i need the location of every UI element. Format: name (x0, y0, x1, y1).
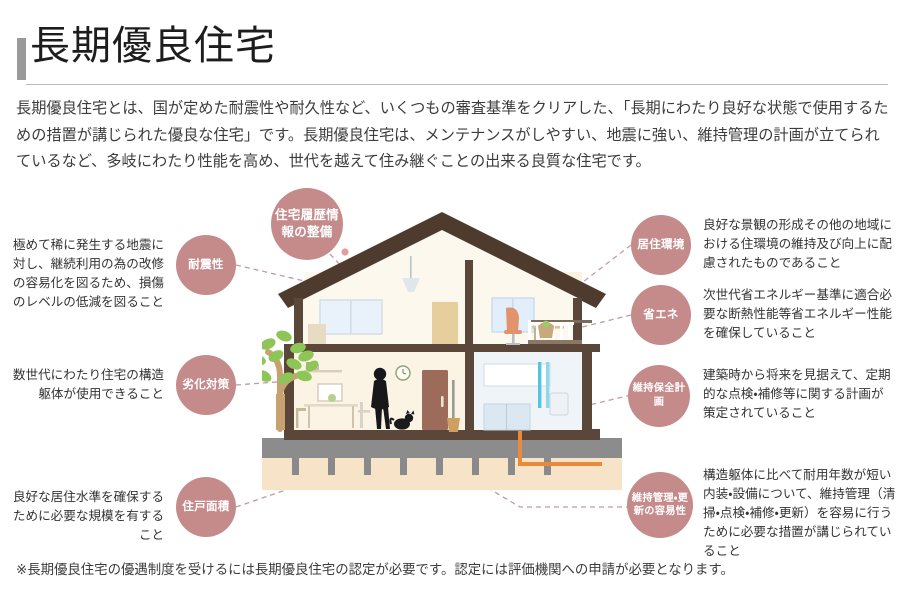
upper-left-window (320, 300, 382, 334)
callout-deterioration-countermeasures: 数世代にわたり住宅の構造躯体が使用できること (12, 366, 164, 404)
badge-dwelling-area[interactable]: 住戸面積 (176, 477, 236, 537)
badge-label: 維持保全計画 (628, 382, 690, 410)
page-header: 長期優良住宅 (0, 8, 905, 78)
badge-deterioration-countermeasures[interactable]: 劣化対策 (176, 355, 236, 415)
callout-energy-saving: 次世代省エネルギー基準に適合必要な断熱性能等省エネルギー性能を確保していること (703, 286, 895, 343)
badge-energy-saving[interactable]: 省エネ (631, 285, 691, 345)
badge-label: 省エネ (643, 308, 678, 322)
badge-maintenance-renewal-ease[interactable]: 維持管理・更新の容易性 (627, 472, 693, 538)
badge-living-environment[interactable]: 居住環境 (631, 215, 691, 275)
right-wall-lower (582, 344, 592, 432)
left-wall-upper (294, 298, 303, 344)
badge-label: 居住環境 (637, 238, 684, 252)
water-heater (550, 393, 568, 415)
badge-label: 住戸面積 (182, 500, 229, 514)
callout-maintenance-plan: 建築時から将来を見据えて、定期的な点検・補修等に関する計画が策定されていること (703, 366, 895, 423)
attic-storage-box (308, 324, 326, 344)
infographic-page: 長期優良住宅 長期優良住宅とは、国が定めた耐震性や耐久性など、いくつもの審査基準… (0, 0, 905, 604)
badge-label: 維持管理・更新の容易性 (627, 492, 693, 518)
foundation-slab (262, 438, 622, 458)
floor-band (284, 429, 600, 440)
callout-earthquake-resistance: 極めて稀に発生する地震に対し、継続利用の為の改修の容易化を図るため、損傷のレベル… (12, 236, 164, 312)
left-wall-lower (284, 344, 294, 432)
callout-living-environment: 良好な景観の形成その他の地域における住環境の維持及び向上に配慮されたものであるこ… (703, 216, 895, 273)
upper-door (432, 302, 458, 344)
title-accent-bar (17, 38, 26, 80)
footnote-text: ※長期優良住宅の優遇制度を受けるには長期優良住宅の認定が必要です。認定には評価機… (16, 560, 886, 580)
badge-earthquake-resistance[interactable]: 耐震性 (176, 235, 236, 295)
page-title: 長期優良住宅 (30, 20, 276, 72)
badge-maintenance-plan[interactable]: 維持保全計画 (628, 365, 690, 427)
mid-wall-upper (465, 260, 473, 344)
intro-paragraph: 長期優良住宅とは、国が定めた耐震性や耐久性など、いくつもの審査基準をクリアした、… (16, 96, 892, 176)
interior-door (422, 370, 448, 430)
door-handle (441, 396, 444, 407)
badge-label: 住宅履歴情報の整備 (271, 207, 343, 241)
diagram-stage: 住宅履歴情報の整備 耐震性 劣化対策 住戸面積 居住環境 省エネ 維持保全計画 … (0, 182, 905, 552)
badge-housing-history[interactable]: 住宅履歴情報の整備 (271, 188, 343, 260)
wall-clock (396, 366, 410, 380)
badge-label: 耐震性 (188, 258, 223, 272)
callout-dwelling-area: 良好な居住水準を確保するために必要な規模を有すること (12, 488, 164, 545)
callout-maintenance-renewal-ease: 構造躯体に比べて耐用年数が短い内装・設備について、維持管理（清掃・点検・補修・更… (703, 466, 899, 561)
mid-wall-lower (465, 350, 474, 432)
title-divider (26, 84, 888, 85)
second-floor-beam (284, 344, 600, 352)
badge-label: 劣化対策 (182, 378, 229, 392)
